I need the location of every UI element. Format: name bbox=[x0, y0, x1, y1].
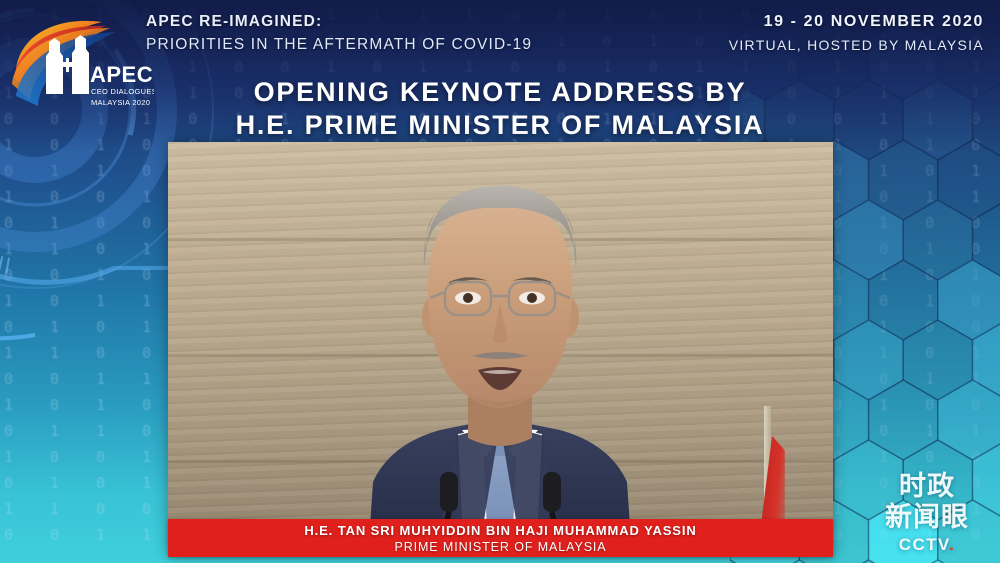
session-title: OPENING KEYNOTE ADDRESS BY H.E. PRIME MI… bbox=[0, 76, 1000, 142]
event-host: VIRTUAL, HOSTED BY MALAYSIA bbox=[729, 37, 984, 53]
event-dates: 19 - 20 NOVEMBER 2020 bbox=[729, 13, 984, 31]
event-theme-line2: PRIORITIES IN THE AFTERMATH OF COVID-19 bbox=[146, 36, 532, 54]
watermark-line2: 新闻眼 bbox=[868, 502, 986, 533]
video-feed[interactable] bbox=[168, 142, 833, 556]
lower-third-caption: H.E. TAN SRI MUHYIDDIN BIN HAJI MUHAMMAD… bbox=[168, 519, 833, 557]
cctv-text: CCTV bbox=[899, 535, 949, 554]
event-theme: APEC RE-IMAGINED: PRIORITIES IN THE AFTE… bbox=[146, 13, 532, 54]
session-title-line2: H.E. PRIME MINISTER OF MALAYSIA bbox=[0, 109, 1000, 142]
watermark-line1: 时政 bbox=[868, 471, 986, 502]
broadcast-screen: 0 1 1 0 1 0 0 1 1 1 1 0 0 1 0 1 0 0 1 0 … bbox=[0, 0, 1000, 563]
session-title-line1: OPENING KEYNOTE ADDRESS BY bbox=[254, 77, 747, 107]
cctv-logo: CCTV. bbox=[868, 535, 986, 555]
event-theme-line1: APEC RE-IMAGINED: bbox=[146, 13, 532, 31]
speaker-title: PRIME MINISTER OF MALAYSIA bbox=[168, 539, 833, 555]
cctv-dot: . bbox=[949, 535, 955, 554]
speaker-figure bbox=[168, 142, 833, 556]
broadcaster-watermark: 时政 新闻眼 CCTV. bbox=[868, 471, 986, 555]
speaker-name: H.E. TAN SRI MUHYIDDIN BIN HAJI MUHAMMAD… bbox=[168, 522, 833, 539]
event-date-host: 19 - 20 NOVEMBER 2020 VIRTUAL, HOSTED BY… bbox=[729, 13, 984, 53]
